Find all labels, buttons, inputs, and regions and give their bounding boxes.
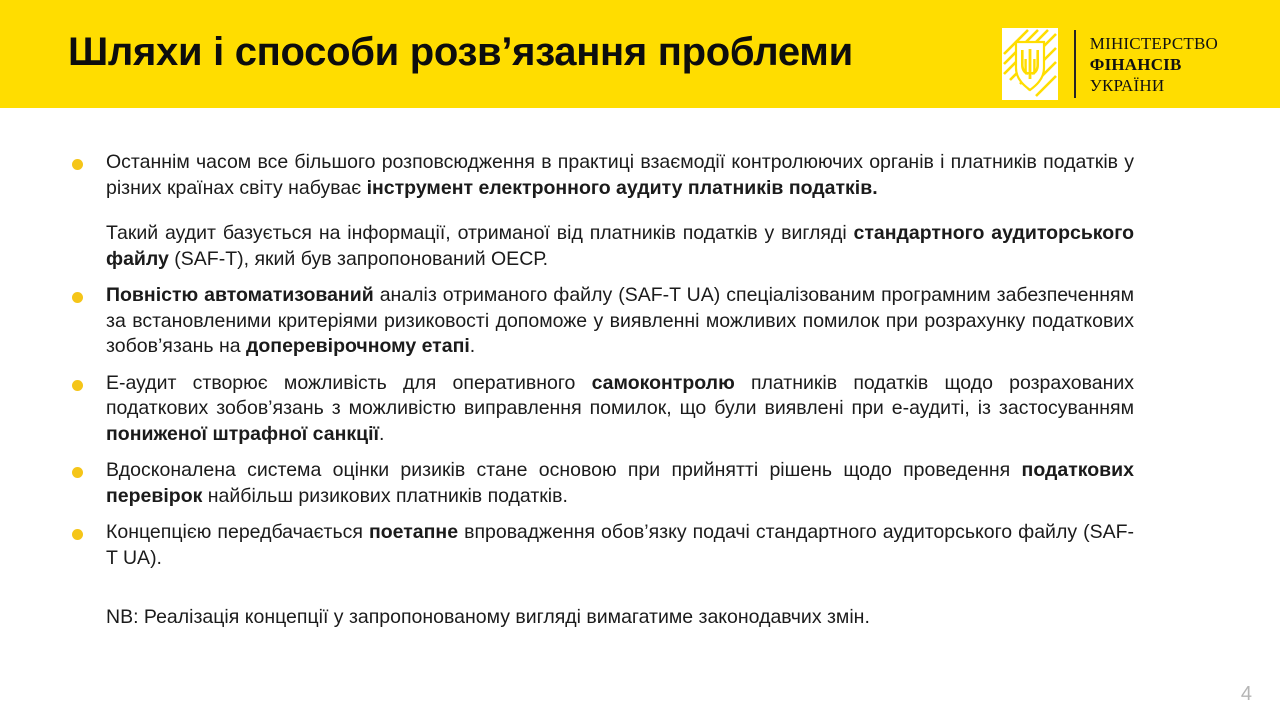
body-text: Вдосконалена система оцінки ризиків стан…	[106, 459, 1022, 481]
body-text: .	[470, 335, 475, 357]
body-text: (SAF-T), який був запропонований ОЕСР.	[169, 248, 548, 270]
paragraph: Останнім часом все більшого розповсюджен…	[106, 150, 1134, 201]
list-item: Останнім часом все більшого розповсюджен…	[68, 150, 1134, 272]
ministry-logo: МІНІСТЕРСТВО ФІНАНСІВ УКРАЇНИ	[1002, 26, 1218, 102]
slide-body: Останнім часом все більшого розповсюджен…	[68, 150, 1134, 631]
list-item: Повністю автоматизований аналіз отримано…	[68, 283, 1134, 360]
note-text: NB: Реалізація концепції у запропоновано…	[68, 605, 1134, 631]
paragraph: Концепцією передбачається поетапне впров…	[106, 520, 1134, 571]
ministry-line-3: УКРАЇНИ	[1090, 75, 1218, 96]
bullet-dot-icon	[72, 159, 83, 170]
body-text: найбільш ризикових платників податків.	[202, 485, 568, 507]
ministry-line-1: МІНІСТЕРСТВО	[1090, 33, 1218, 54]
emphasis-text: пониженої штрафної санкції	[106, 423, 379, 445]
bullet-dot-icon	[72, 467, 83, 478]
bullet-dot-icon	[72, 529, 83, 540]
paragraph: Е-аудит створює можливість для оперативн…	[106, 371, 1134, 448]
paragraph: Такий аудит базується на інформації, отр…	[106, 221, 1134, 272]
bullet-list: Останнім часом все більшого розповсюджен…	[68, 150, 1134, 571]
body-text: Такий аудит базується на інформації, отр…	[106, 222, 854, 244]
ministry-line-2: ФІНАНСІВ	[1090, 54, 1218, 75]
page-number: 4	[1241, 683, 1252, 706]
emphasis-text: інструмент електронного аудиту платників…	[367, 177, 878, 199]
ukraine-trident-emblem-icon	[1002, 28, 1058, 100]
bullet-dot-icon	[72, 292, 83, 303]
paragraph: Повністю автоматизований аналіз отримано…	[106, 283, 1134, 360]
ministry-name: МІНІСТЕРСТВО ФІНАНСІВ УКРАЇНИ	[1090, 33, 1218, 96]
bullet-dot-icon	[72, 380, 83, 391]
list-item: Вдосконалена система оцінки ризиків стан…	[68, 458, 1134, 509]
emphasis-text: доперевірочному етапі	[246, 335, 470, 357]
list-item: Концепцією передбачається поетапне впров…	[68, 520, 1134, 571]
emphasis-text: самоконтролю	[592, 372, 735, 394]
logo-divider	[1074, 30, 1076, 98]
body-text: .	[379, 423, 384, 445]
emphasis-text: Повністю автоматизований	[106, 284, 374, 306]
body-text: Е-аудит створює можливість для оперативн…	[106, 372, 592, 394]
paragraph: Вдосконалена система оцінки ризиків стан…	[106, 458, 1134, 509]
slide-header: Шляхи і способи розв’язання проблеми	[0, 0, 1280, 108]
page-title: Шляхи і способи розв’язання проблеми	[68, 26, 853, 78]
emphasis-text: поетапне	[369, 521, 458, 543]
list-item: Е-аудит створює можливість для оперативн…	[68, 371, 1134, 448]
body-text: Концепцією передбачається	[106, 521, 369, 543]
